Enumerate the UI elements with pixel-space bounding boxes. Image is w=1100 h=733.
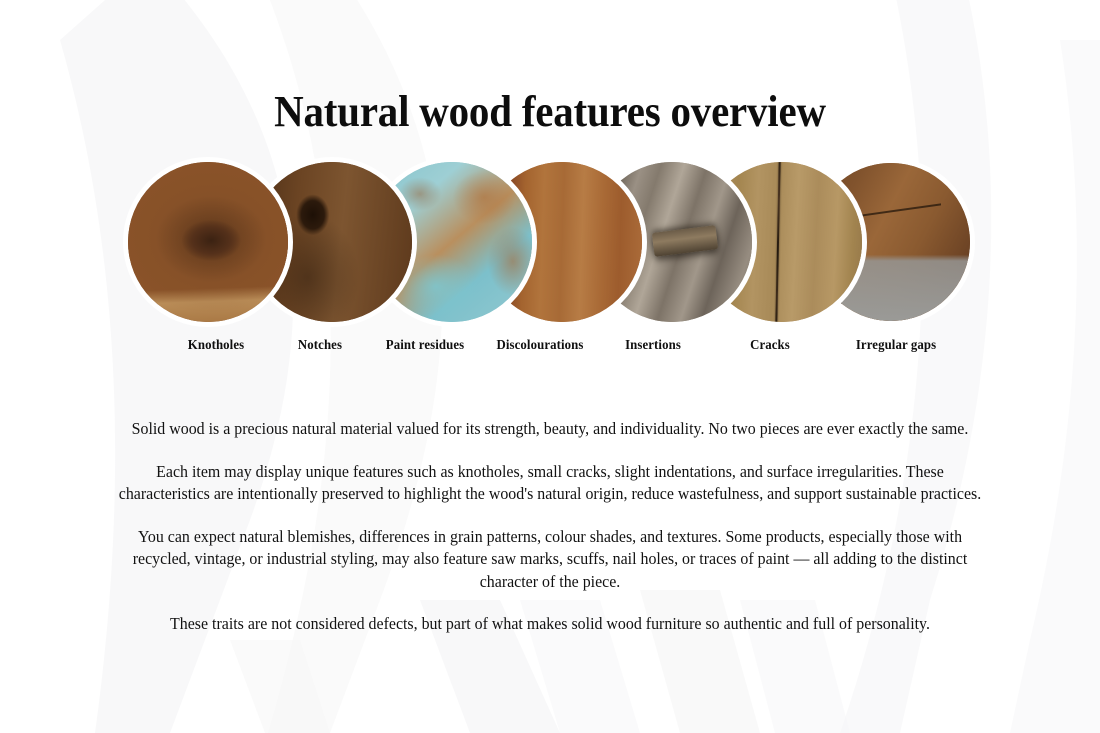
feature-label-knotholes: Knotholes: [188, 336, 244, 354]
feature-label-discolourations: Discolourations: [497, 336, 584, 354]
feature-label-paint-residues: Paint residues: [386, 336, 464, 354]
body-paragraph-2: Each item may display unique features su…: [111, 461, 989, 506]
feature-label-irregular-gaps: Irregular gaps: [856, 336, 936, 354]
wood-features-infographic: Natural wood features overview Knotholes…: [0, 0, 1100, 733]
feature-label-row: Knotholes Notches Paint residues Discolo…: [0, 336, 1100, 358]
body-paragraph-1: Solid wood is a precious natural materia…: [111, 418, 989, 441]
feature-label-cracks: Cracks: [750, 336, 790, 354]
body-paragraph-4: These traits are not considered defects,…: [111, 613, 989, 636]
body-copy: Solid wood is a precious natural materia…: [111, 418, 989, 636]
body-paragraph-3: You can expect natural blemishes, differ…: [111, 526, 989, 594]
feature-image-strip: [0, 162, 1100, 330]
feature-label-notches: Notches: [298, 336, 342, 354]
wood-knothole-photo: [128, 162, 288, 322]
page-title: Natural wood features overview: [39, 86, 1062, 138]
feature-label-insertions: Insertions: [625, 336, 681, 354]
feature-image-knotholes: [128, 162, 288, 322]
